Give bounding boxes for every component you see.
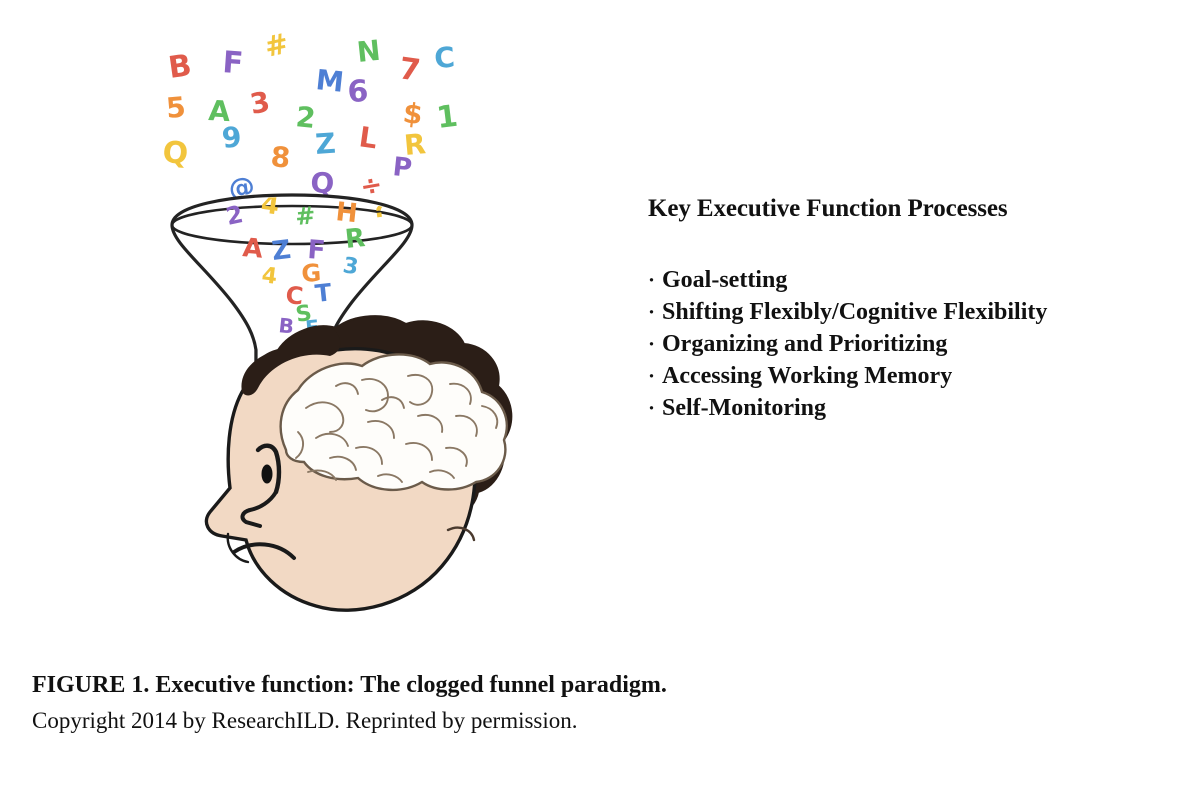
bullet-icon: · [648, 264, 662, 296]
clog-character: A [241, 233, 264, 265]
floating-character: 6 [347, 74, 370, 110]
list-item: · Self-Monitoring [648, 392, 1168, 424]
floating-character: N [355, 34, 382, 69]
list-item-label: Shifting Flexibly/Cognitive Flexibility [662, 296, 1047, 328]
floating-character: Q [161, 135, 189, 172]
floating-character: # [262, 27, 292, 64]
figure-caption: FIGURE 1. Executive function: The clogge… [32, 668, 932, 738]
figure-root: BF#MN7C5A326$1Q98ZLRP@Q÷ 24#H?AZFR3G4TCS… [0, 0, 1200, 811]
floating-character: B [166, 48, 194, 86]
floating-characters-group: BF#MN7C5A326$1Q98ZLRP@Q÷ [161, 27, 459, 205]
list-item-label: Self-Monitoring [662, 392, 826, 424]
floating-character: 7 [397, 51, 423, 89]
list-item-label: Accessing Working Memory [662, 360, 952, 392]
head-group [206, 316, 511, 610]
list-item: · Accessing Working Memory [648, 360, 1168, 392]
illustration-canvas: BF#MN7C5A326$1Q98ZLRP@Q÷ 24#H?AZFR3G4TCS… [130, 20, 530, 630]
clog-character: 4 [260, 263, 278, 290]
list-item: · Shifting Flexibly/Cognitive Flexibilit… [648, 296, 1168, 328]
floating-character: P [391, 152, 413, 184]
floating-character: 8 [269, 140, 291, 175]
clog-character: Z [270, 235, 292, 267]
list-item-label: Organizing and Prioritizing [662, 328, 947, 360]
list-item: · Goal-setting [648, 264, 1168, 296]
clog-character: R [344, 223, 367, 255]
floating-character: 5 [165, 90, 187, 125]
caption-title: FIGURE 1. Executive function: The clogge… [32, 668, 932, 702]
floating-character: L [357, 120, 379, 155]
bullet-icon: · [648, 360, 662, 392]
floating-character: 9 [220, 120, 243, 155]
bullet-icon: · [648, 328, 662, 360]
list-item-label: Goal-setting [662, 264, 787, 296]
key-processes-panel: Key Executive Function Processes · Goal-… [648, 195, 1168, 424]
clog-character: # [294, 201, 316, 231]
panel-title: Key Executive Function Processes [648, 195, 1168, 223]
list-item: · Organizing and Prioritizing [648, 328, 1168, 360]
floating-character: 1 [435, 99, 460, 136]
floating-character: F [221, 45, 244, 81]
floating-character: ÷ [358, 170, 385, 203]
floating-character: $ [401, 96, 424, 131]
bullet-icon: · [648, 392, 662, 424]
clogged-funnel-illustration: BF#MN7C5A326$1Q98ZLRP@Q÷ 24#H?AZFR3G4TCS… [130, 20, 530, 630]
floating-character: C [433, 41, 456, 75]
floating-character: 3 [247, 85, 272, 121]
caption-credit: Copyright 2014 by ResearchILD. Reprinted… [32, 704, 932, 738]
eye [262, 465, 273, 484]
bullet-icon: · [648, 296, 662, 328]
process-list: · Goal-setting · Shifting Flexibly/Cogni… [648, 264, 1168, 424]
floating-character: Z [314, 127, 337, 161]
floating-character: M [314, 63, 345, 99]
